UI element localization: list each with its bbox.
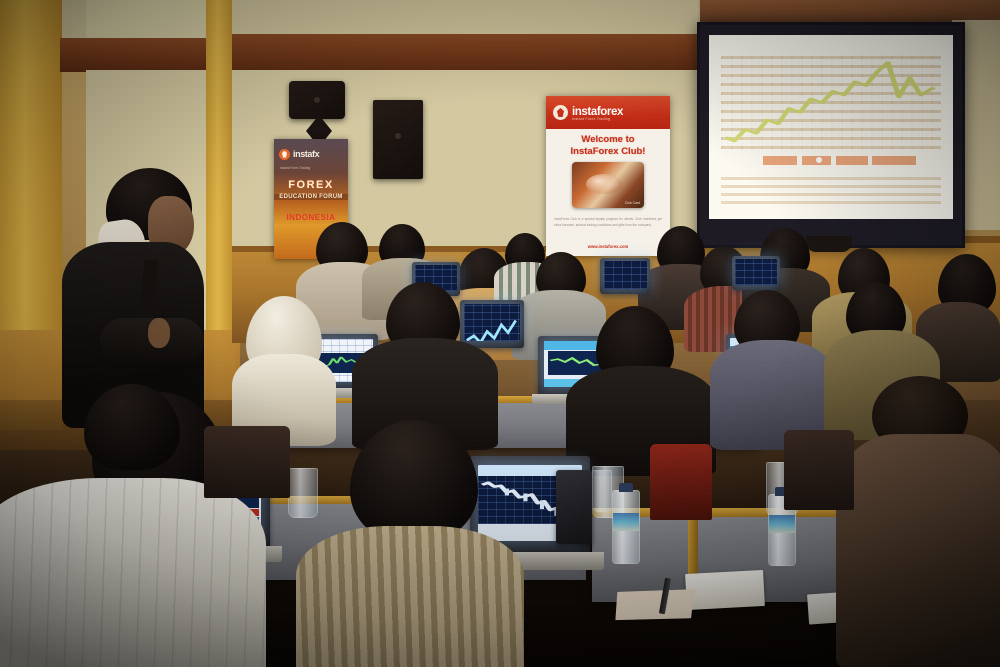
club-card-label: Club Card (625, 201, 640, 205)
laptop-back-right[interactable] (732, 256, 780, 290)
projection-screen-mount (806, 236, 852, 252)
side-banner-title: FOREX (274, 179, 348, 191)
attendee-foreground-left-edge (84, 384, 180, 504)
main-banner-logo-bar: instaforex (546, 96, 670, 129)
foreground-shirt-stripes (0, 478, 266, 667)
wall-trim-upper-mid (232, 34, 702, 72)
water-bottle-1[interactable] (612, 490, 640, 564)
instaforex-logo-icon (553, 105, 568, 120)
side-banner-subtitle2: EDUCATION FORUM (274, 194, 348, 200)
main-banner-url: www.instaforex.com (546, 244, 670, 249)
laptop-screen[interactable] (604, 261, 647, 288)
main-banner-body-text: InstaForex Club is a special loyalty pro… (554, 216, 662, 228)
bottle-label (613, 513, 639, 531)
bottle-cap (619, 483, 633, 492)
projector-chart-line (721, 53, 941, 149)
fg-center-shirt (296, 526, 524, 667)
projector-lower-panel (721, 175, 941, 204)
wall-trim-upper-right (700, 0, 1000, 22)
attendee-foreground-center (296, 420, 526, 667)
batik-right-shirt (836, 434, 1000, 667)
main-banner-headline: Welcome to InstaForex Club! (546, 134, 670, 158)
projector-bar-1 (763, 156, 797, 164)
wall-speaker-left (289, 81, 345, 119)
laptop-front-right-small[interactable] (556, 470, 592, 544)
chair-left[interactable] (204, 426, 290, 498)
laptop-back-center[interactable] (600, 258, 650, 294)
main-banner-headline-line2: InstaForex Club! (571, 146, 646, 157)
presenter-hand (148, 318, 170, 348)
projection-screen-image (709, 35, 953, 219)
chair-right[interactable] (784, 430, 854, 510)
main-banner-headline-line1: Welcome to (581, 134, 634, 145)
projection-screen (697, 22, 965, 248)
main-banner-club-card-image: Club Card (572, 162, 644, 208)
side-banner-subtitle: Instant Forex Trading (280, 166, 310, 170)
main-banner-tagline: Instant Forex Trading (572, 117, 610, 121)
side-banner-logo-text: instafx (293, 149, 319, 159)
notepad-1[interactable] (685, 570, 765, 610)
laptop-lid (556, 470, 592, 544)
main-banner-instaforex-club: instaforex Instant Forex Trading Welcome… (546, 96, 670, 256)
side-banner-logo: instafx (274, 145, 348, 163)
fg-left-hair (84, 384, 180, 470)
seminar-photo: instafx Instant Forex Trading FOREX EDUC… (0, 0, 1000, 667)
drinking-glass-4[interactable] (592, 470, 612, 512)
wall-trim-upper-left (60, 38, 228, 72)
projector-bar-4 (872, 156, 916, 164)
projector-bar-3 (836, 156, 868, 164)
laptop-screen[interactable] (735, 259, 776, 285)
chair-mid[interactable] (650, 444, 712, 520)
fg-center-hair (350, 420, 478, 542)
instafx-logo-icon (279, 149, 290, 160)
side-banner-subtitle3: INDONESIA (274, 213, 348, 222)
attendee-batik-right (836, 392, 1000, 667)
wall-speaker-right (373, 100, 423, 179)
laptop-screen[interactable] (464, 304, 519, 340)
laptop-mid-center[interactable] (460, 300, 524, 348)
bottle-label (769, 515, 795, 533)
